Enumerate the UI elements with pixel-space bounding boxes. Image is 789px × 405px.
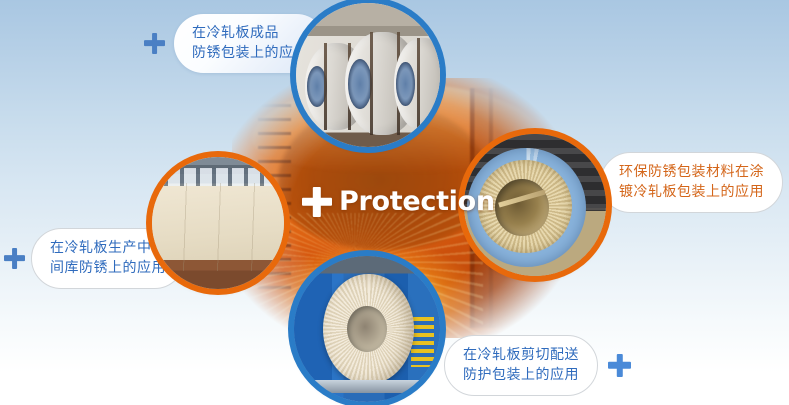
callout-bottom[interactable]: 在冷轧板剪切配送 防护包装上的应用 (444, 335, 631, 396)
coil-bore (396, 62, 414, 106)
callout-left-line2: 间库防锈上的应用 (50, 258, 166, 278)
tarp-covered-stock-photo (152, 157, 284, 289)
center-title-group: Protection (302, 186, 495, 217)
callout-right-line1: 环保防锈包装材料在涂 (619, 162, 764, 182)
coil-strap (370, 32, 373, 136)
plus-icon (302, 187, 332, 217)
photo-circle-left[interactable] (152, 157, 284, 289)
steel-coil (394, 38, 440, 130)
coil-strap (417, 38, 420, 130)
callout-bottom-line1: 在冷轧板剪切配送 (463, 345, 579, 365)
machine-markings (411, 317, 434, 367)
callout-left-line1: 在冷轧板生产中 (50, 238, 166, 258)
callout-bottom-line2: 防护包装上的应用 (463, 365, 579, 385)
coil-strap (324, 43, 327, 129)
tarp-seams (152, 183, 284, 270)
coil-bore (348, 59, 372, 109)
callout-top-line2: 防锈包装上的应用 (192, 43, 308, 63)
photo-circle-bottom[interactable] (294, 256, 440, 402)
plus-icon (4, 248, 25, 269)
photo-circle-top[interactable] (296, 3, 440, 147)
callout-bottom-pill: 在冷轧板剪切配送 防护包装上的应用 (444, 335, 598, 396)
page-title: Protection (339, 186, 495, 217)
protection-banner: Protection (0, 0, 789, 405)
conveyor-rail (303, 380, 431, 393)
steel-coils-warehouse-photo (296, 3, 440, 147)
coil-on-packing-line-photo (294, 256, 440, 402)
callout-right-line2: 镀冷轧板包装上的应用 (619, 182, 764, 202)
callout-right-pill: 环保防锈包装材料在涂 镀冷轧板包装上的应用 (600, 152, 783, 213)
plus-icon (144, 33, 165, 54)
callout-right[interactable]: 环保防锈包装材料在涂 镀冷轧板包装上的应用 (600, 152, 789, 213)
callout-top-line1: 在冷轧板成品 (192, 23, 308, 43)
plus-icon (608, 354, 631, 377)
